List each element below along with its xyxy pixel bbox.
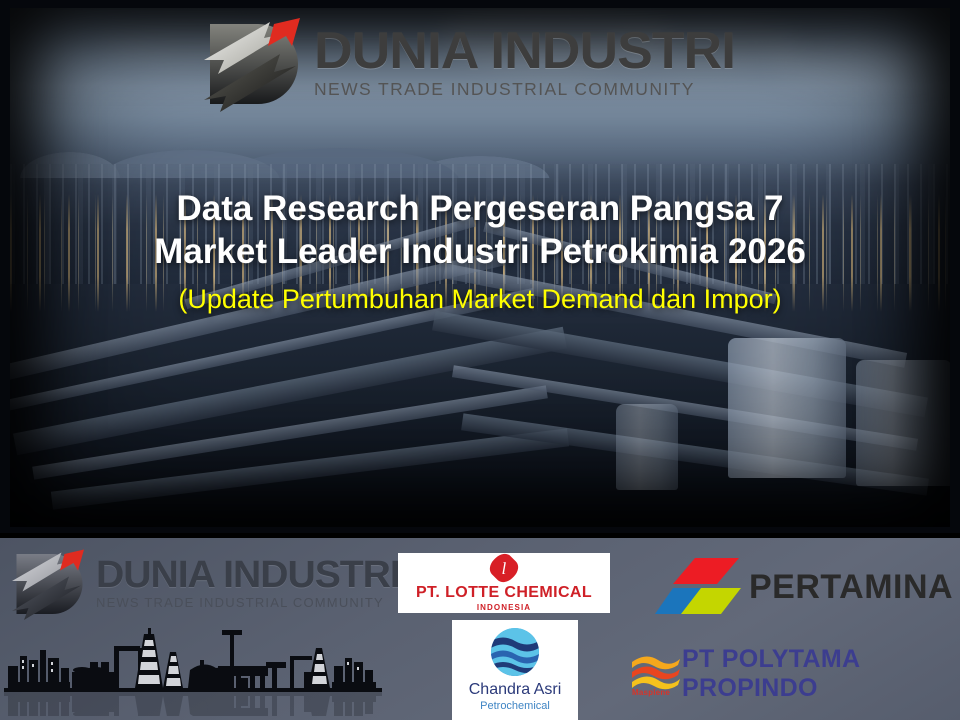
lotte-country: INDONESIA (477, 603, 531, 612)
footer-brand-name: DUNIA INDUSTRI (96, 558, 400, 593)
hero-subtitle: (Update Pertumbuhan Market Demand dan Im… (0, 284, 960, 315)
pipe-rack (13, 327, 567, 455)
masplene-label: Masplene (632, 688, 670, 697)
dunia-industri-arrow-d-icon (196, 16, 308, 112)
pipe-rack (461, 413, 929, 495)
footer-brand-text: DUNIA INDUSTRI NEWS TRADE INDUSTRIAL COM… (96, 558, 391, 611)
hero-section: DUNIA INDUSTRI NEWS TRADE INDUSTRIAL COM… (0, 0, 960, 533)
cloud-shape (770, 36, 940, 86)
presentation-slide: DUNIA INDUSTRI NEWS TRADE INDUSTRIAL COM… (0, 0, 960, 720)
storage-tank (856, 360, 950, 486)
logo-polytama-propindo[interactable]: Masplene PT POLYTAMA PROPINDO (630, 645, 960, 703)
pertamina-name: PERTAMINA (749, 568, 953, 607)
footer-brand-logo: DUNIA INDUSTRI NEWS TRADE INDUSTRIAL COM… (6, 548, 391, 620)
footer-logo-bar: DUNIA INDUSTRI NEWS TRADE INDUSTRIAL COM… (0, 538, 960, 720)
hero-title-line-1: Data Research Pergeseran Pangsa 7 (0, 188, 960, 231)
brand-tagline: NEWS TRADE INDUSTRIAL COMMUNITY (314, 79, 723, 100)
industrial-skyline-silhouette-icon (4, 626, 382, 716)
logo-chandra-asri[interactable]: Chandra Asri Petrochemical (452, 620, 578, 720)
hero-title-line-2: Market Leader Industri Petrokimia 2026 (0, 231, 960, 274)
brand-name: DUNIA INDUSTRI (314, 28, 735, 76)
logo-lotte-chemical[interactable]: l PT. LOTTE CHEMICAL INDONESIA (398, 553, 610, 613)
polytama-wave-icon: Masplene (630, 653, 682, 695)
chandra-asri-globe-icon (491, 628, 539, 676)
pipe-rack (51, 428, 569, 509)
lotte-diamond-l-icon: l (486, 549, 523, 586)
pipe-rack (32, 385, 548, 479)
logo-pertamina[interactable]: PERTAMINA (655, 556, 953, 618)
storage-tank (616, 404, 678, 490)
hero-title-block: Data Research Pergeseran Pangsa 7 Market… (0, 188, 960, 315)
polytama-name: PT POLYTAMA PROPINDO (682, 645, 960, 703)
chandra-asri-name: Chandra Asri (469, 681, 562, 699)
distant-hills (10, 126, 950, 178)
lotte-name: PT. LOTTE CHEMICAL (416, 584, 592, 602)
footer-brand-tagline: NEWS TRADE INDUSTRIAL COMMUNITY (96, 595, 391, 610)
pipe-rack (432, 311, 928, 418)
pertamina-arrow-icon (655, 556, 743, 618)
dunia-industri-arrow-d-icon (6, 548, 90, 620)
brand-text-block: DUNIA INDUSTRI NEWS TRADE INDUSTRIAL COM… (314, 28, 723, 100)
chandra-asri-sub: Petrochemical (480, 700, 550, 712)
storage-tank (728, 338, 846, 478)
pipe-rack (452, 365, 918, 450)
header-brand-logo: DUNIA INDUSTRI NEWS TRADE INDUSTRIAL COM… (196, 16, 723, 112)
